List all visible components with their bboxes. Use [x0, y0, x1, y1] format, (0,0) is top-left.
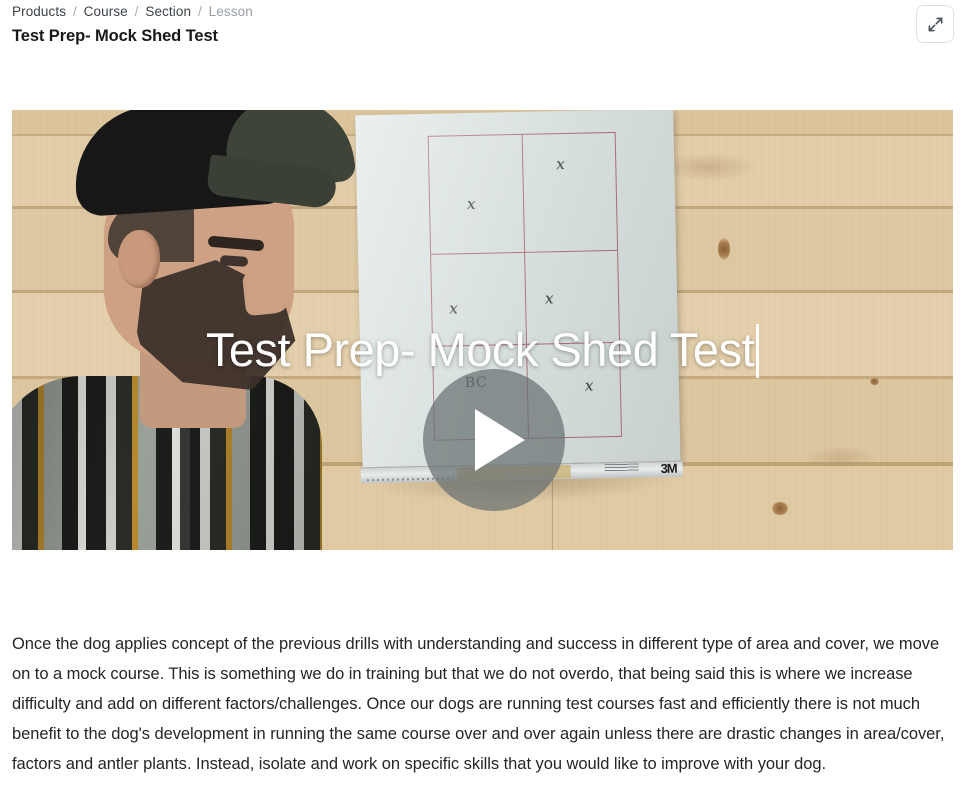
breadcrumb-item-course[interactable]: Course: [84, 4, 128, 19]
play-triangle-icon: [475, 409, 525, 471]
grid-x-mark: x: [449, 299, 458, 317]
grid-x-mark: x: [585, 376, 594, 394]
breadcrumb-item-section[interactable]: Section: [145, 4, 191, 19]
breadcrumb-item-products[interactable]: Products: [12, 4, 66, 19]
grid-horizontal-line: [433, 342, 619, 347]
lesson-description: Once the dog applies concept of the prev…: [12, 629, 952, 779]
grid-x-mark: x: [545, 289, 554, 307]
expand-diagonal-icon: [927, 16, 944, 33]
breadcrumb-separator: /: [70, 4, 80, 19]
pad-fine-print: [605, 464, 639, 472]
breadcrumb-separator: /: [132, 4, 142, 19]
ear: [118, 230, 160, 288]
lesson-page: Products / Course / Section / Lesson Tes…: [0, 0, 966, 788]
play-button[interactable]: [423, 369, 565, 511]
video-poster-frame: x x x x x BC 3M: [12, 110, 953, 550]
pad-brand-logo: 3M: [660, 461, 676, 476]
instructor-figure: [12, 110, 342, 550]
grid-x-mark: x: [556, 155, 565, 173]
wood-knot: [870, 378, 879, 385]
eye: [220, 255, 249, 267]
page-header: Products / Course / Section / Lesson Tes…: [0, 0, 966, 60]
breadcrumb-item-lesson: Lesson: [209, 4, 253, 19]
breadcrumb: Products / Course / Section / Lesson: [12, 3, 954, 21]
breadcrumb-separator: /: [195, 4, 205, 19]
wood-knot: [718, 238, 730, 260]
grid-x-mark: x: [467, 195, 476, 213]
video-player[interactable]: x x x x x BC 3M: [12, 110, 953, 550]
page-title: Test Prep- Mock Shed Test: [12, 25, 954, 47]
expand-button[interactable]: [916, 5, 954, 43]
grid-horizontal-line: [431, 250, 617, 255]
wood-knot: [772, 502, 788, 515]
